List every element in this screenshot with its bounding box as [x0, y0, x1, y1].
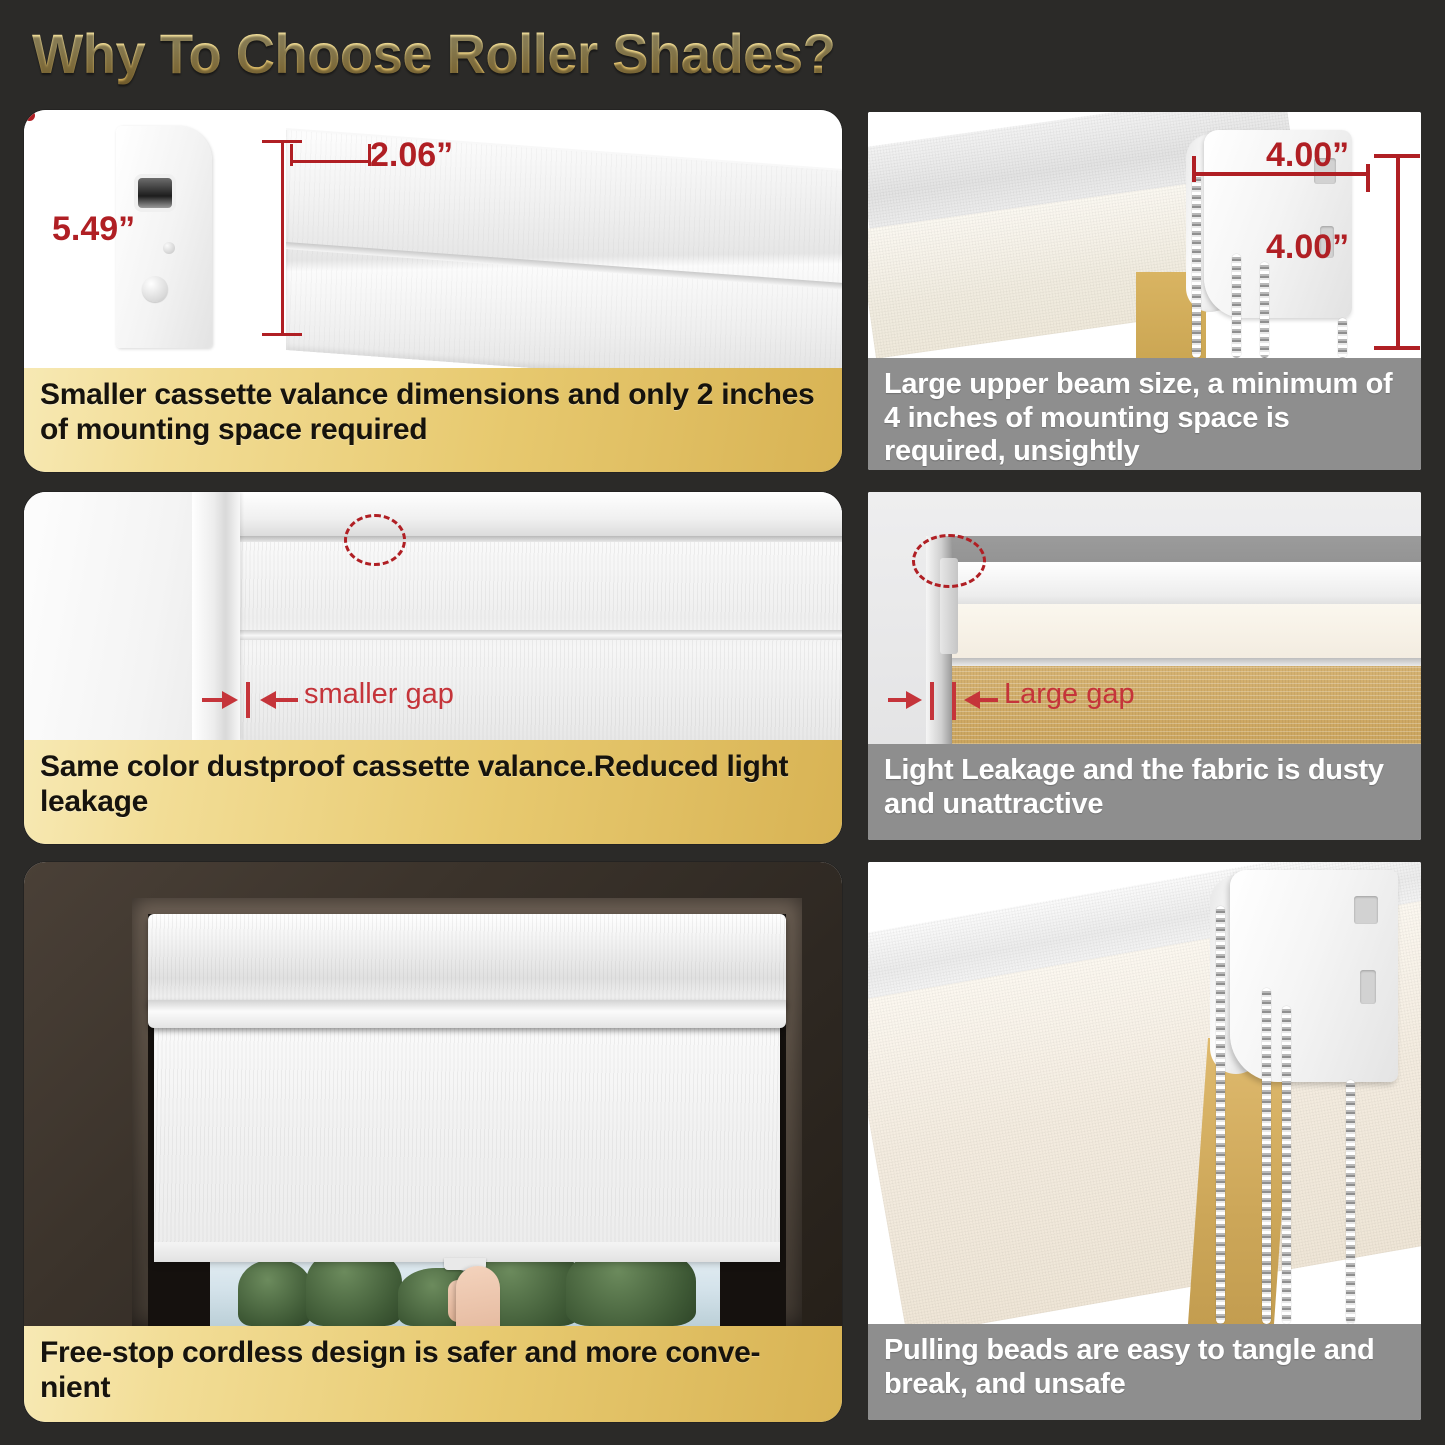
bead-chain[interactable] [1232, 254, 1241, 358]
beam-width-tick-left [1192, 156, 1196, 182]
bead-chain[interactable] [1260, 262, 1269, 358]
beam-height-tick-bottom [1374, 346, 1420, 350]
title-bar: Why To Choose Roller Shades? [32, 18, 1032, 88]
panel-bead-chain-hazard: Pulling beads are easy to tangle and bre… [868, 862, 1421, 1420]
height-dimension-line [281, 140, 284, 336]
endcap-slot-icon [138, 178, 172, 208]
highlight-circle-icon [344, 514, 406, 566]
caption-large-gap-light-leak: Light Leakage and the fabric is dusty an… [868, 744, 1421, 840]
caption-large-upper-beam: Large upper beam size, a minimum of 4 in… [868, 358, 1421, 470]
width-dimension-anchor-dot [24, 110, 35, 121]
endcap-screw-icon [142, 276, 168, 302]
gap-arrow-tail-left [888, 698, 906, 702]
gap-arrow-tail-right [276, 698, 298, 702]
cream-valance [946, 604, 1421, 660]
shade-mid-band [238, 630, 842, 640]
gap-marker [952, 682, 956, 720]
bead-chain[interactable] [1262, 988, 1271, 1324]
mounting-bracket [1230, 870, 1398, 1082]
panel-cordless-design: Free-stop cordless design is safer and m… [24, 862, 842, 1422]
bead-chain[interactable] [1346, 1080, 1355, 1324]
gap-marker [930, 682, 934, 720]
bead-chain[interactable] [1216, 906, 1225, 1324]
panel-large-upper-beam: 4.00” 4.00” Large upper beam size, a min… [868, 112, 1421, 470]
roller-shade-fabric [154, 1026, 780, 1258]
bead-chain[interactable] [1192, 174, 1201, 358]
gap-marker [246, 682, 250, 718]
page-title: Why To Choose Roller Shades? [32, 21, 835, 86]
caption-small-gap-valance: Same color dustproof cassette valance.Re… [24, 740, 842, 844]
white-headrail [942, 562, 1421, 610]
gap-arrow-right-icon [906, 691, 922, 709]
photo-window-large-gap: Large gap [868, 492, 1421, 744]
cassette-valance [148, 914, 786, 1006]
valance-bottom-lip [148, 1000, 786, 1028]
shade-texture [154, 1026, 780, 1258]
panel-large-gap-light-leak: Large gap Light Leakage and the fabric i… [868, 492, 1421, 840]
gap-arrow-left-icon [260, 691, 276, 709]
height-dimension-tick-bottom [262, 333, 302, 336]
smaller-gap-label: smaller gap [304, 678, 454, 711]
valance-texture [148, 914, 786, 1006]
hand-pulling-shade [456, 1266, 500, 1326]
bead-chain[interactable] [1282, 1006, 1291, 1324]
height-dimension-tick-top [262, 140, 302, 143]
large-gap-label: Large gap [1004, 678, 1135, 711]
bead-chain[interactable] [1338, 318, 1347, 358]
width-dimension-tick-left [290, 144, 293, 166]
beam-height-dimension-line [1396, 154, 1400, 350]
endcap-bolt-icon [163, 242, 175, 254]
gap-arrow-right-icon [222, 691, 238, 709]
panel-small-gap-valance: smaller gap Same color dustproof cassett… [24, 492, 842, 844]
gap-arrow-tail-right [980, 698, 998, 702]
panel-cassette-valance-dimensions: 2.06” 5.49” Smaller cassette valance dim… [24, 110, 842, 472]
bracket-notch-icon [1354, 896, 1378, 924]
photo-room-scene [24, 862, 842, 1326]
photo-large-upper-beam: 4.00” 4.00” [868, 112, 1421, 358]
beam-width-tick-right [1366, 164, 1370, 192]
shade-top-rail [238, 536, 842, 542]
valance-bottom-rail [946, 658, 1421, 666]
tree [238, 1260, 312, 1326]
beam-width-dimension-label: 4.00” [1266, 136, 1349, 175]
photo-bead-chain-roller [868, 862, 1421, 1324]
beam-height-dimension-label: 4.00” [1266, 228, 1349, 267]
gap-arrow-tail-left [202, 698, 222, 702]
height-dimension-label: 5.49” [52, 210, 135, 249]
caption-cordless-design: Free-stop cordless design is safer and m… [24, 1326, 842, 1422]
highlight-circle-icon [912, 534, 986, 588]
caption-bead-chain-hazard: Pulling beads are easy to tangle and bre… [868, 1324, 1421, 1420]
window-head-molding [192, 492, 842, 536]
photo-window-small-gap: smaller gap [24, 492, 842, 740]
gap-arrow-left-icon [964, 691, 980, 709]
width-dimension-label: 2.06” [370, 136, 453, 175]
width-dimension-line [292, 160, 370, 163]
caption-cassette-valance: Smaller cassette valance dimensions and … [24, 368, 842, 472]
photo-cassette-valance: 2.06” 5.49” [24, 110, 842, 368]
bracket-notch-icon [1360, 970, 1376, 1004]
beam-height-tick-top [1374, 154, 1420, 158]
